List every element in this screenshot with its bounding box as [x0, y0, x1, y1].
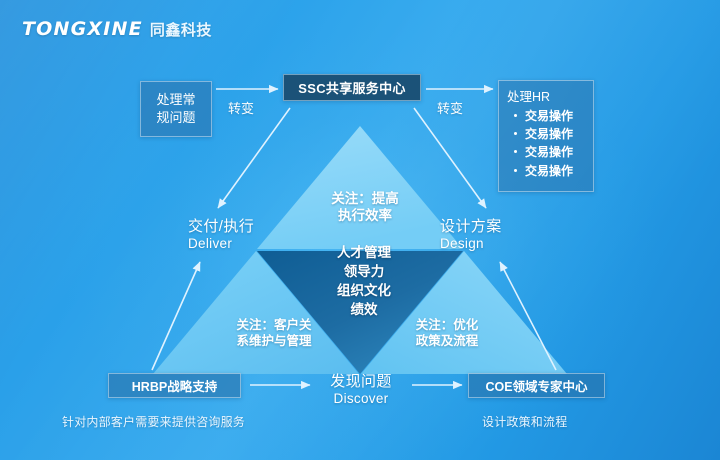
corner-label-design-en: Design	[440, 236, 502, 251]
slide-canvas: TONGXINE 同鑫科技	[0, 0, 720, 460]
corner-label-design: 设计方案 Design	[440, 215, 502, 251]
corner-label-design-cn: 设计方案	[440, 215, 502, 236]
caption-hrbp: 针对内部客户需要来提供咨询服务	[62, 413, 245, 430]
list-item: 交易操作	[514, 107, 587, 125]
label-focus-bottom-right-line2: 政策及流程	[392, 333, 502, 349]
label-focus-top-line1: 关注：提高	[300, 190, 430, 207]
box-handle-hr[interactable]: 处理HR 交易操作 交易操作 交易操作 交易操作	[498, 80, 594, 192]
box-ssc-shared-service-center[interactable]: SSC共享服务中心	[283, 74, 421, 101]
corner-label-deliver-en: Deliver	[188, 236, 254, 251]
core-line: 人才管理	[300, 243, 428, 262]
box-handle-routine-issues[interactable]: 处理常 规问题	[140, 81, 212, 137]
caption-coe: 设计政策和流程	[482, 413, 567, 430]
brand-logo-cn: 同鑫科技	[150, 19, 212, 40]
core-line: 领导力	[300, 262, 428, 281]
triangle-segment-top	[257, 126, 463, 249]
list-item: 交易操作	[514, 125, 587, 143]
box-hrbp-strategic-support[interactable]: HRBP战略支持	[108, 373, 241, 398]
arrow-label-transform-left: 转变	[228, 98, 254, 117]
list-item: 交易操作	[514, 143, 587, 161]
label-focus-bottom-right-line1: 关注：优化	[392, 317, 502, 333]
corner-label-deliver-cn: 交付/执行	[188, 215, 254, 236]
arrow-label-transform-right: 转变	[437, 98, 463, 117]
brand-logo: TONGXINE 同鑫科技	[22, 18, 212, 40]
brand-logo-en: TONGXINE	[22, 18, 143, 40]
corner-label-discover-en: Discover	[315, 391, 407, 406]
label-focus-bottom-left-line2: 系维护与管理	[215, 333, 333, 349]
corner-label-discover-cn: 发现问题	[315, 370, 407, 391]
corner-label-deliver: 交付/执行 Deliver	[188, 215, 254, 251]
label-focus-bottom-left: 关注：客户关 系维护与管理	[215, 317, 333, 349]
label-focus-top-line2: 执行效率	[300, 207, 430, 224]
core-line: 组织文化	[300, 281, 428, 300]
box-coe-center-of-expertise[interactable]: COE领域专家中心	[468, 373, 605, 398]
box-handle-hr-title: 处理HR	[507, 86, 587, 105]
list-item: 交易操作	[514, 162, 587, 180]
label-focus-bottom-right: 关注：优化 政策及流程	[392, 317, 502, 349]
label-core-capabilities: 人才管理 领导力 组织文化 绩效	[300, 243, 428, 320]
box-handle-routine-issues-line2: 规问题	[156, 109, 195, 127]
label-focus-bottom-left-line1: 关注：客户关	[215, 317, 333, 333]
box-handle-routine-issues-line1: 处理常	[156, 91, 195, 109]
corner-label-discover: 发现问题 Discover	[315, 370, 407, 406]
box-handle-hr-list: 交易操作 交易操作 交易操作 交易操作	[506, 107, 587, 180]
label-focus-top: 关注：提高 执行效率	[300, 190, 430, 225]
